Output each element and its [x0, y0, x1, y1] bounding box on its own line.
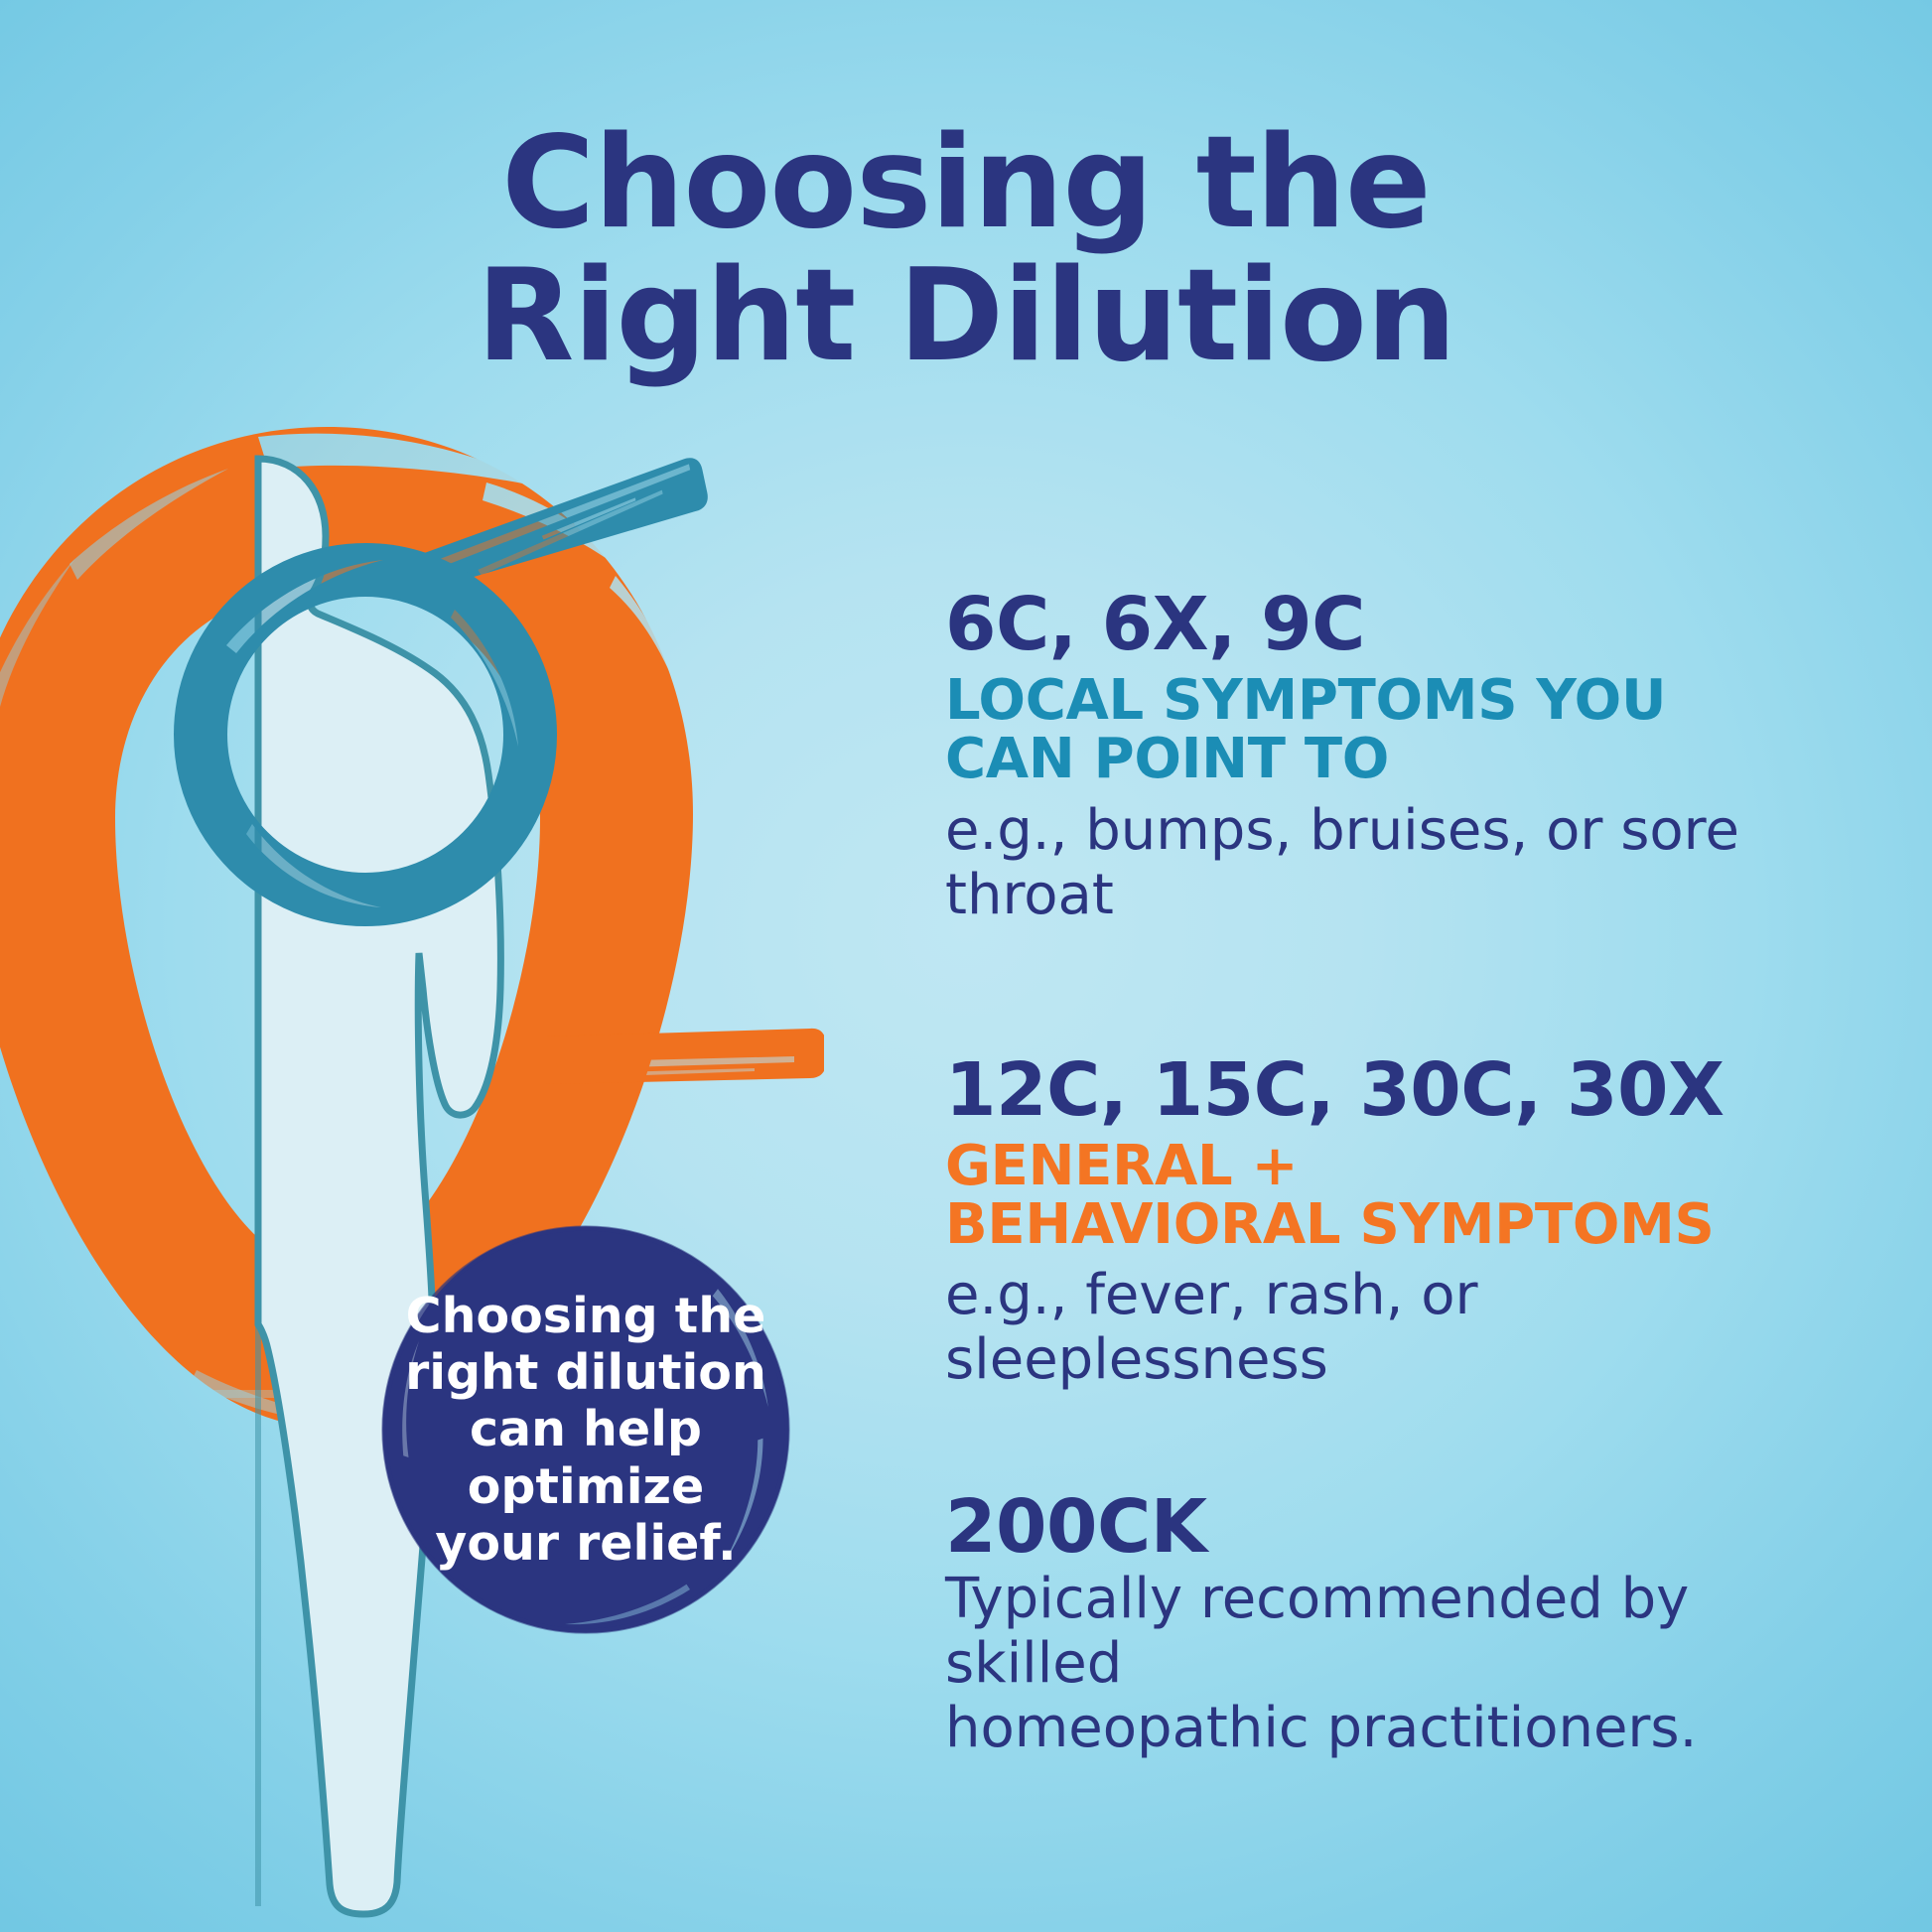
spacer-1 — [945, 928, 1878, 1053]
illustration-stage — [0, 397, 755, 1932]
example-line-3a: Typically recommended by skilled — [945, 1568, 1878, 1697]
illustration-svg — [0, 397, 824, 1932]
dose-label-1: 6C, 6X, 9C — [945, 588, 1878, 661]
category-line-2a: GENERAL + — [945, 1137, 1878, 1195]
navy-brush-circle: Choosing the right dilution can help opt… — [377, 1221, 794, 1638]
category-label-1: LOCAL SYMPTOMS YOU CAN POINT TO — [945, 671, 1878, 789]
example-text-3: Typically recommended by skilled homeopa… — [945, 1568, 1878, 1761]
example-line-3b: homeopathic practitioners. — [945, 1697, 1878, 1761]
infographic-poster: Choosing the right dilution can help opt… — [0, 0, 1932, 1932]
dose-label-2: 12C, 15C, 30C, 30X — [945, 1053, 1878, 1127]
title-line-2: Right Dilution — [0, 250, 1932, 383]
page-title: Choosing the Right Dilution — [0, 117, 1932, 384]
orange-brush-connector — [538, 1029, 826, 1084]
dilution-list: 6C, 6X, 9C LOCAL SYMPTOMS YOU CAN POINT … — [945, 588, 1878, 1761]
badge-text: Choosing the right dilution can help opt… — [377, 1221, 794, 1638]
category-line-2b: BEHAVIORAL SYMPTOMS — [945, 1195, 1878, 1254]
title-line-1: Choosing the — [501, 109, 1430, 257]
spacer-2 — [945, 1393, 1878, 1490]
category-label-2: GENERAL + BEHAVIORAL SYMPTOMS — [945, 1137, 1878, 1255]
category-line-1a: LOCAL SYMPTOMS YOU — [945, 671, 1878, 730]
dose-label-3: 200CK — [945, 1490, 1878, 1564]
example-text-1: e.g., bumps, bruises, or sore throat — [945, 799, 1878, 928]
dilution-entry-1: 6C, 6X, 9C LOCAL SYMPTOMS YOU CAN POINT … — [945, 588, 1878, 928]
example-text-2: e.g., fever, rash, or sleeplessness — [945, 1264, 1878, 1393]
category-line-1b: CAN POINT TO — [945, 730, 1878, 788]
dilution-entry-3: 200CK Typically recommended by skilled h… — [945, 1490, 1878, 1761]
dilution-entry-2: 12C, 15C, 30C, 30X GENERAL + BEHAVIORAL … — [945, 1053, 1878, 1394]
